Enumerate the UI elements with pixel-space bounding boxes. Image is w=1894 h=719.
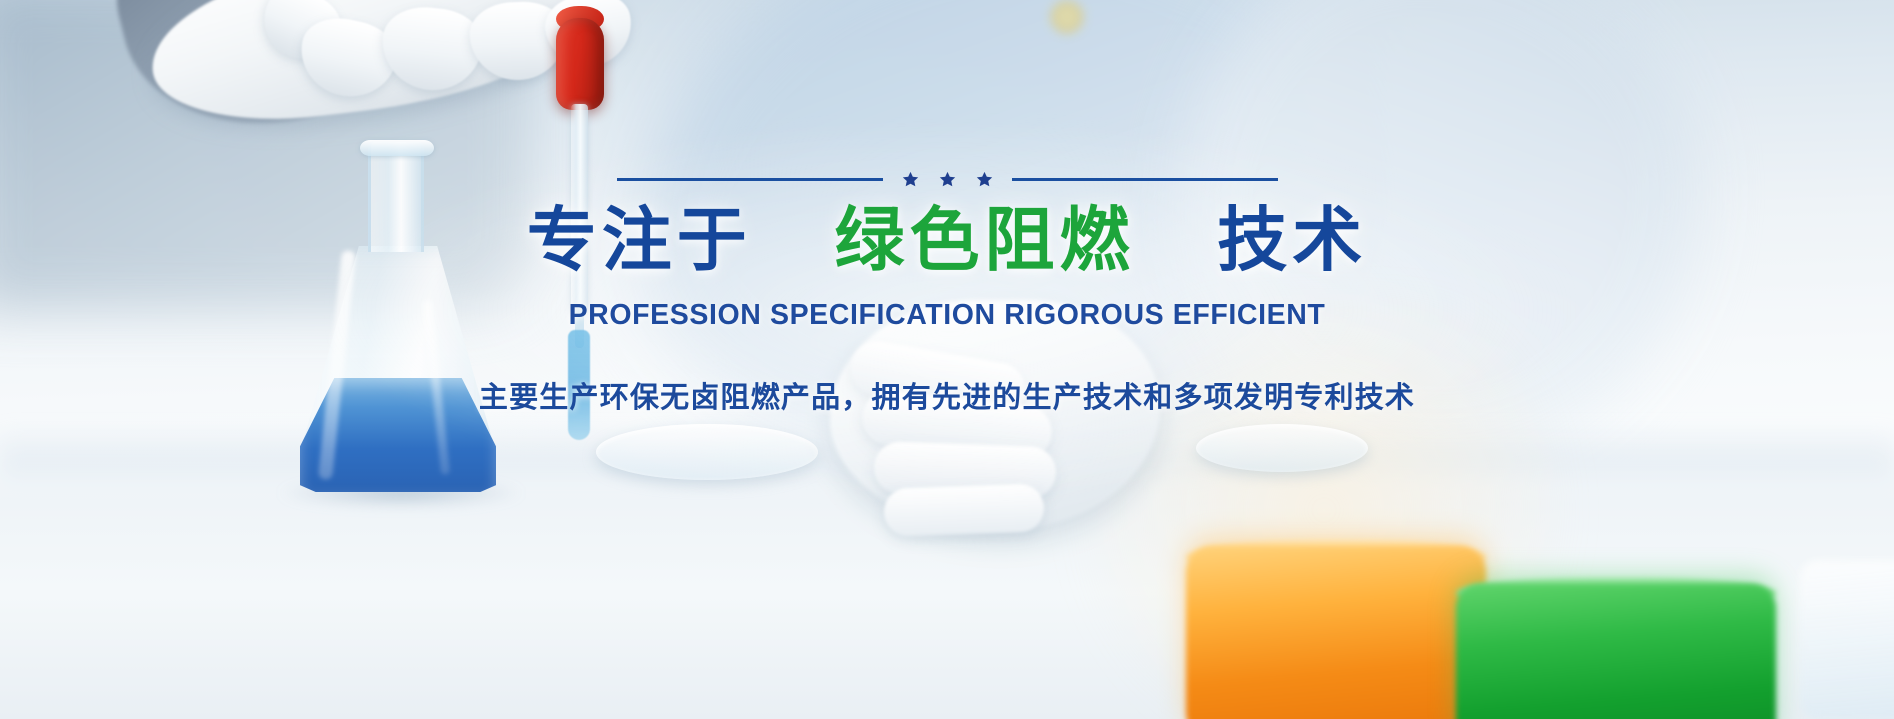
- divider-rule-left: [617, 178, 883, 181]
- hero-banner: 专注于 绿色阻燃 技术 PROFESSION SPECIFICATION RIG…: [0, 0, 1894, 719]
- banner-content: 专注于 绿色阻燃 技术 PROFESSION SPECIFICATION RIG…: [0, 0, 1894, 719]
- star-icon: [975, 170, 994, 189]
- banner-headline: 专注于 绿色阻燃 技术: [527, 203, 1368, 279]
- star-icon: [901, 170, 920, 189]
- star-icon: [938, 170, 957, 189]
- headline-part-2: 绿色阻燃: [835, 199, 1135, 281]
- banner-subtitle-english: PROFESSION SPECIFICATION RIGOROUS EFFICI…: [569, 299, 1326, 332]
- headline-part-3: 技术: [1217, 199, 1367, 281]
- divider-rule-right: [1012, 178, 1278, 181]
- star-group: [897, 170, 998, 189]
- decorative-divider: [617, 170, 1278, 189]
- banner-tagline: 主要生产环保无卤阻燃产品，拥有先进的生产技术和多项发明专利技术: [479, 374, 1415, 416]
- headline-part-1: 专注于: [527, 199, 752, 281]
